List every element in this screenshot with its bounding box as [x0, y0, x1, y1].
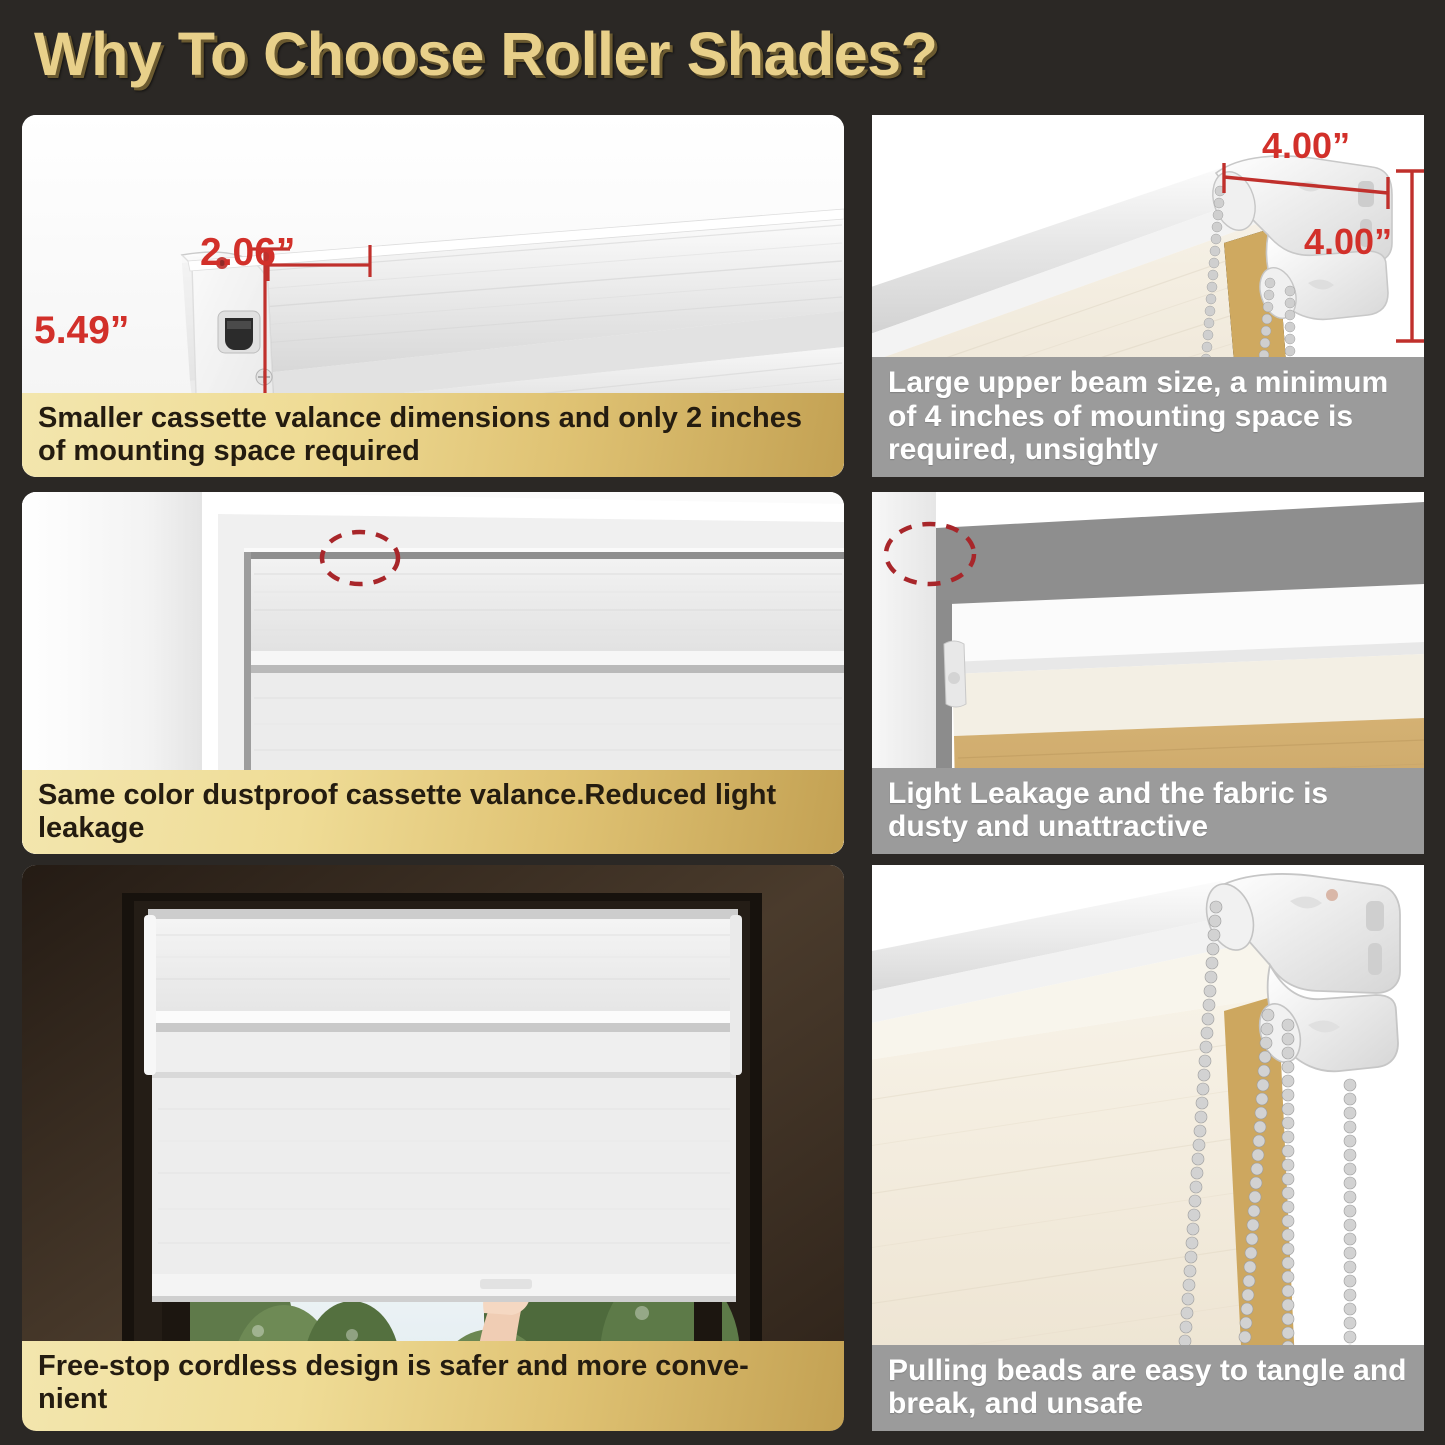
height-dimension-label: 5.49”: [34, 309, 129, 353]
caption-con-pulling-beads: Pulling beads are easy to tangle and bre…: [872, 1345, 1424, 1431]
panel-pro-smaller-gap: smaller gap Same color dustproof cassett…: [22, 492, 844, 854]
panel-pro-cassette-dimensions: 5.49” 2.06” Smaller cassette valance dim…: [22, 115, 844, 477]
panel-pro-cordless-design: Free-stop cordless design is safer and m…: [22, 865, 844, 1431]
caption-con-large-gap: Light Leakage and the fabric is dusty an…: [872, 768, 1424, 854]
caption-con-upper-beam-size: Large upper beam size, a minimum of 4 in…: [872, 357, 1424, 477]
beam-height-dimension-label: 4.00”: [1304, 221, 1392, 263]
panel-con-large-gap: Large gap Light Leakage and the fabric i…: [872, 492, 1424, 854]
caption-line-2: nient: [38, 1383, 830, 1415]
page-header: Why To Choose Roller Shades?: [0, 0, 1445, 108]
comparison-grid: 5.49” 2.06” Smaller cassette valance dim…: [0, 108, 1445, 1445]
panel-con-pulling-beads: Pulling beads are easy to tangle and bre…: [872, 865, 1424, 1431]
caption-line-1: Free-stop cordless design is safer and m…: [38, 1350, 830, 1382]
beam-width-dimension-label: 4.00”: [1262, 125, 1350, 167]
caption-pro-cordless-design: Free-stop cordless design is safer and m…: [22, 1341, 844, 1431]
caption-pro-cassette-dimensions: Smaller cassette valance dimensions and …: [22, 393, 844, 477]
page-title: Why To Choose Roller Shades?: [34, 19, 937, 89]
panel-con-upper-beam-size: 4.00” 4.00” Large upper beam size, a min…: [872, 115, 1424, 477]
caption-pro-smaller-gap: Same color dustproof cassette valance.Re…: [22, 770, 844, 854]
width-dimension-label: 2.06”: [200, 231, 295, 275]
